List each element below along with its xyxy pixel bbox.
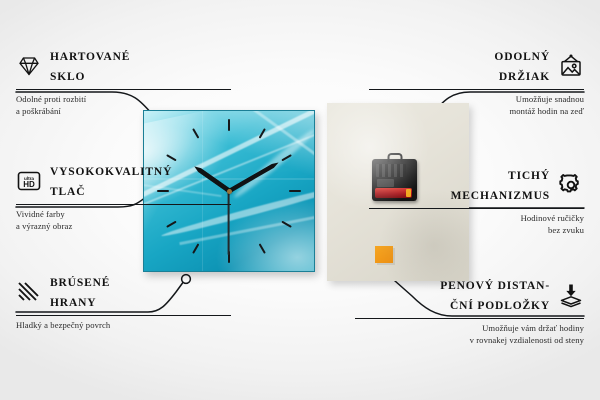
feature-silent-mechanism: TICHÝ MECHANIZMUS Hodinové ručičkybez zv… (369, 165, 584, 237)
divider (16, 89, 231, 90)
feature-title: TICHÝ MECHANIZMUS (451, 165, 550, 204)
divider (369, 89, 584, 90)
infographic-canvas: HARTOVANÉ SKLO Odolné proti rozbitía poš… (0, 0, 600, 400)
feature-polished-edges: BRÚSENÉ HRANY Hladký a bezpečný povrch (16, 272, 231, 332)
divider (355, 318, 584, 319)
feature-description: Umožňuje vám držať hodinyv rovnakej vzdi… (355, 323, 584, 347)
hanging-frame-icon (558, 53, 584, 79)
feature-foam-spacers: PENOVÝ DISTAN- ČNÍ PODLOŽKY Umožňuje vám… (355, 275, 584, 347)
feature-title: BRÚSENÉ HRANY (50, 272, 110, 311)
ultra-hd-badge-bottom: HD (23, 180, 35, 189)
diamond-icon (16, 53, 42, 79)
feature-high-quality-print: ultra HD VYSOKOKVALITNÝ TLAČ Vividné far… (16, 161, 231, 233)
feature-title: HARTOVANÉ SKLO (50, 46, 130, 85)
feature-description: Umožňuje snadnoumontáž hodin na zeď (369, 94, 584, 118)
divider (16, 315, 231, 316)
feature-title: PENOVÝ DISTAN- ČNÍ PODLOŽKY (440, 275, 550, 314)
feature-description: Vividné farbya výrazný obraz (16, 209, 231, 233)
feature-description: Hodinové ručičkybez zvuku (369, 213, 584, 237)
divider (16, 204, 231, 205)
feature-tempered-glass: HARTOVANÉ SKLO Odolné proti rozbitía poš… (16, 46, 231, 118)
gear-icon (558, 172, 584, 198)
feature-title: VYSOKOKVALITNÝ TLAČ (50, 161, 172, 200)
divider (369, 208, 584, 209)
feature-durable-hanger: ODOLNÝ DRŽIAK Umožňuje snadnoumontáž hod… (369, 46, 584, 118)
feature-description: Odolné proti rozbitía poškrábání (16, 94, 231, 118)
clock-tick (229, 190, 303, 192)
feature-title: ODOLNÝ DRŽIAK (494, 46, 550, 85)
arrow-onto-layers-icon (558, 282, 584, 308)
foam-spacer-pad (375, 246, 393, 263)
diagonal-stripes-icon (16, 279, 42, 305)
mechanism-hook (387, 153, 402, 162)
feature-description: Hladký a bezpečný povrch (16, 320, 231, 332)
ultra-hd-badge-icon: ultra HD (16, 168, 42, 194)
